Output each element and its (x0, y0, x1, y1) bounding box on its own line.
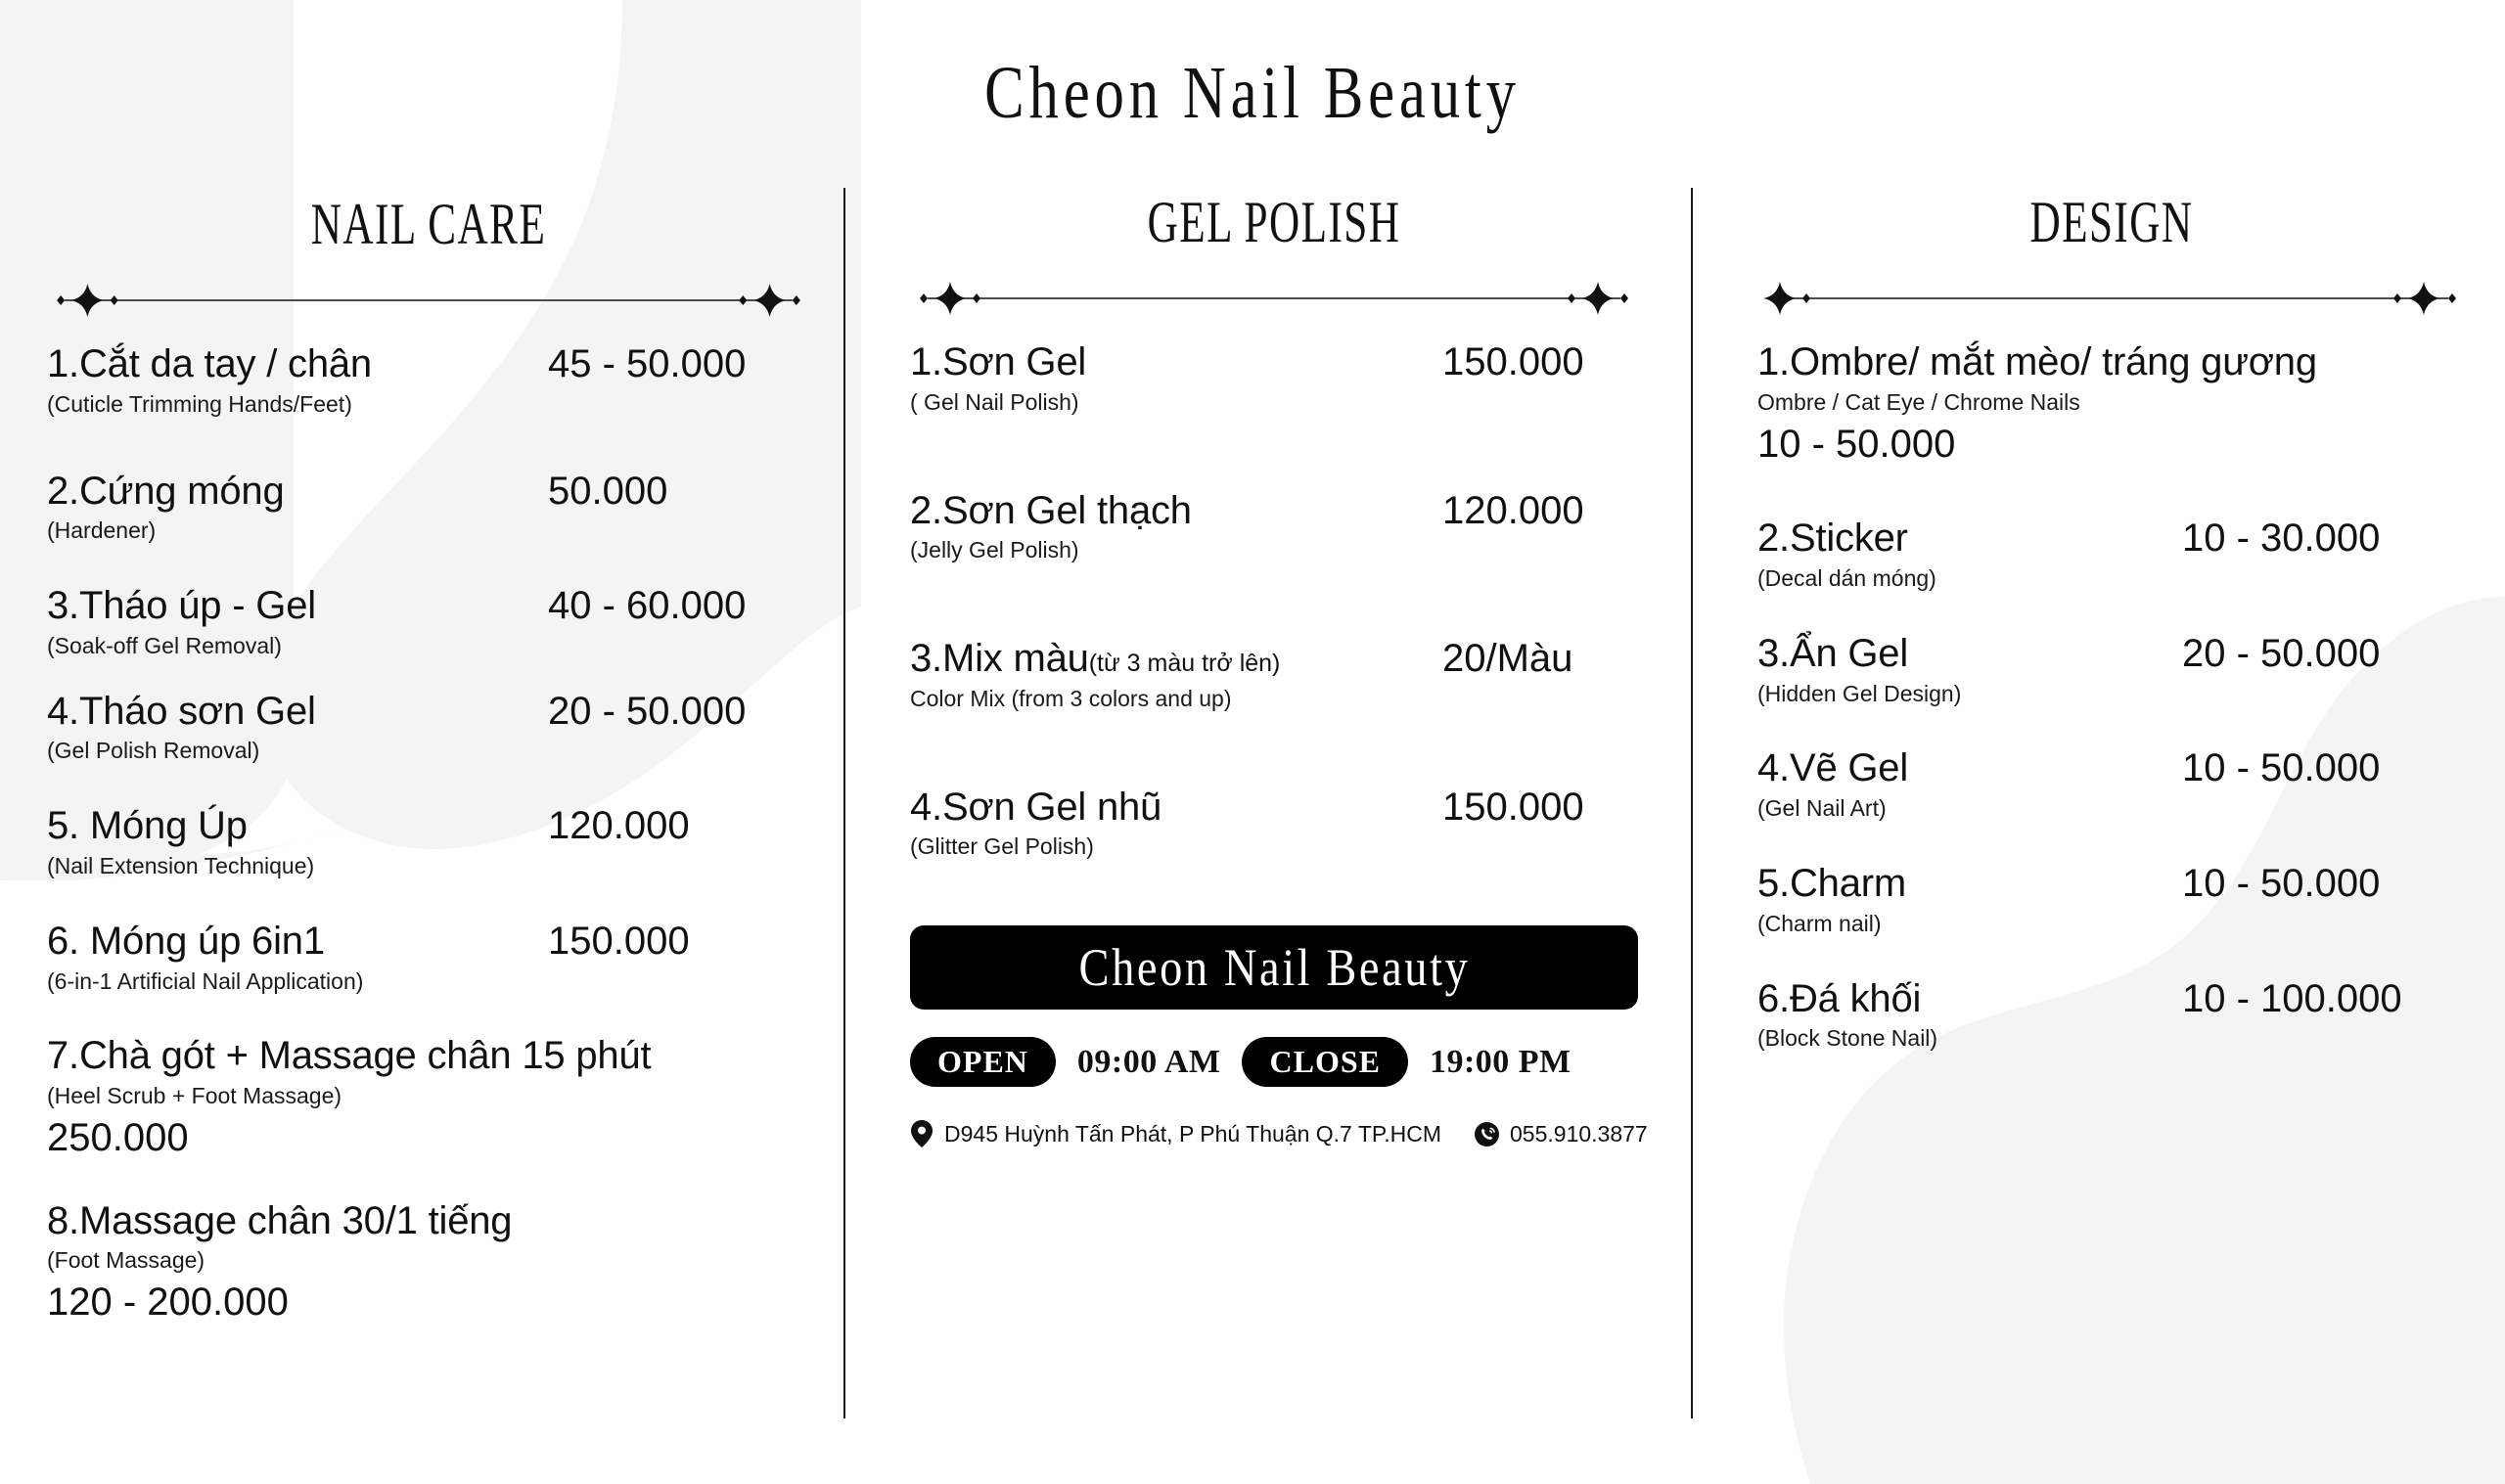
close-time: 19:00 PM (1430, 1044, 1571, 1081)
item-price: 120.000 (548, 804, 810, 848)
phone-text: 055.910.3877 (1510, 1121, 1648, 1147)
ornament-divider-nail-care (47, 284, 810, 317)
item-name: 2.Cứng móng (47, 470, 285, 514)
item-list-design: 1.Ombre/ mắt mèo/ tráng gương Ombre / Ca… (1757, 340, 2466, 1053)
item-price: 150.000 (1442, 340, 1638, 384)
item-price: 120.000 (1442, 489, 1638, 533)
item-name: 8.Massage chân 30/1 tiếng (47, 1199, 810, 1243)
item-name: 6.Đá khối (1757, 977, 1937, 1021)
menu-item: 6.Đá khối (Block Stone Nail) 10 - 100.00… (1757, 977, 2466, 1054)
section-header-gel-polish: GEL POLISH (1012, 189, 1536, 256)
item-subtitle: (Glitter Gel Polish) (910, 832, 1161, 861)
item-price: 250.000 (47, 1116, 810, 1160)
item-list-gel-polish: 1.Sơn Gel ( Gel Nail Polish) 150.000 2.S… (910, 340, 1638, 1147)
item-name: 2.Sơn Gel thạch (910, 489, 1192, 533)
menu-item: 4.Sơn Gel nhũ (Glitter Gel Polish) 150.0… (910, 786, 1638, 862)
item-subtitle: ( Gel Nail Polish) (910, 388, 1086, 417)
item-price: 150.000 (548, 920, 810, 964)
item-subtitle: (Decal dán móng) (1757, 564, 1936, 593)
item-name: 3.Mix màu(từ 3 màu trở lên) (910, 637, 1280, 681)
menu-item: 1.Cắt da tay / chân (Cuticle Trimming Ha… (47, 342, 810, 419)
column-gel-polish: GEL POLISH 1.Sơn Gel ( Gel Nail Polish) … (849, 0, 1697, 1484)
item-subtitle: (Soak-off Gel Removal) (47, 632, 316, 660)
location-pin-icon (910, 1120, 934, 1147)
menu-item: 4.Vẽ Gel (Gel Nail Art) 10 - 50.000 (1757, 746, 2466, 823)
menu-item: 6. Móng úp 6in1 (6-in-1 Artificial Nail … (47, 920, 810, 996)
item-price: 150.000 (1442, 786, 1638, 830)
open-badge: OPEN (910, 1037, 1056, 1087)
item-subtitle: Color Mix (from 3 colors and up) (910, 685, 1280, 713)
item-subtitle: (6-in-1 Artificial Nail Application) (47, 967, 363, 996)
menu-item: 7.Chà gót + Massage chân 15 phút (Heel S… (47, 1034, 810, 1159)
item-subtitle: (Gel Nail Art) (1757, 794, 1908, 823)
ornament-divider-gel-polish (910, 282, 1638, 315)
item-name: 7.Chà gót + Massage chân 15 phút (47, 1034, 810, 1078)
item-price: 50.000 (548, 470, 810, 514)
item-subtitle: (Hidden Gel Design) (1757, 680, 1961, 708)
item-name: 1.Sơn Gel (910, 340, 1086, 384)
item-subtitle: (Nail Extension Technique) (47, 852, 314, 880)
item-price: 10 - 100.000 (2182, 977, 2466, 1021)
item-name: 5.Charm (1757, 862, 1906, 906)
logo-banner-text: Cheon Nail Beauty (1078, 937, 1470, 998)
item-price: 10 - 50.000 (2182, 746, 2466, 790)
section-header-nail-care: NAIL CARE (154, 191, 704, 258)
section-header-design: DESIGN (1856, 189, 2366, 256)
logo-banner: Cheon Nail Beauty (910, 925, 1638, 1010)
item-subtitle: (Jelly Gel Polish) (910, 536, 1192, 564)
item-name: 6. Móng úp 6in1 (47, 920, 363, 964)
address-text: D945 Huỳnh Tấn Phát, P Phú Thuận Q.7 TP.… (944, 1121, 1441, 1147)
menu-item: 3.Tháo úp - Gel (Soak-off Gel Removal) 4… (47, 584, 810, 660)
item-subtitle: (Cuticle Trimming Hands/Feet) (47, 390, 372, 419)
item-price: 20 - 50.000 (548, 690, 810, 734)
item-name: 3.Tháo úp - Gel (47, 584, 316, 628)
menu-item: 1.Sơn Gel ( Gel Nail Polish) 150.000 (910, 340, 1638, 417)
menu-item: 5. Móng Úp (Nail Extension Technique) 12… (47, 804, 810, 880)
menu-item: 4.Tháo sơn Gel (Gel Polish Removal) 20 -… (47, 690, 810, 766)
column-nail-care: NAIL CARE 1.Cắt da tay / chân (Cuticle T… (0, 0, 849, 1484)
item-list-nail-care: 1.Cắt da tay / chân (Cuticle Trimming Ha… (47, 342, 810, 1325)
column-divider-right (1691, 188, 1693, 1418)
column-design: DESIGN 1.Ombre/ mắt mèo/ tráng gương Omb… (1697, 0, 2505, 1484)
item-price: 10 - 50.000 (2182, 862, 2466, 906)
item-name: 1.Cắt da tay / chân (47, 342, 372, 386)
item-name: 2.Sticker (1757, 517, 1936, 561)
item-subtitle: (Block Stone Nail) (1757, 1024, 1937, 1053)
menu-item: 2.Sticker (Decal dán móng) 10 - 30.000 (1757, 517, 2466, 593)
item-name-suffix: (từ 3 màu trở lên) (1089, 650, 1281, 677)
phone-group: 055.910.3877 (1475, 1121, 1648, 1147)
item-price: 120 - 200.000 (47, 1281, 810, 1325)
menu-columns: NAIL CARE 1.Cắt da tay / chân (Cuticle T… (0, 0, 2505, 1484)
open-time: 09:00 AM (1077, 1044, 1221, 1081)
ornament-divider-design (1757, 282, 2466, 315)
item-price: 40 - 60.000 (548, 584, 810, 628)
item-subtitle: (Hardener) (47, 517, 285, 545)
item-price: 45 - 50.000 (548, 342, 810, 386)
column-divider-left (843, 188, 845, 1418)
menu-item: 3.Mix màu(từ 3 màu trở lên) Color Mix (f… (910, 637, 1638, 713)
item-name: 4.Tháo sơn Gel (47, 690, 316, 734)
close-badge: CLOSE (1242, 1037, 1407, 1087)
item-subtitle: (Charm nail) (1757, 910, 1906, 938)
item-subtitle: Ombre / Cat Eye / Chrome Nails (1757, 388, 2466, 417)
item-name: 3.Ẩn Gel (1757, 632, 1961, 676)
item-name: 4.Vẽ Gel (1757, 746, 1908, 790)
item-price: 20 - 50.000 (2182, 632, 2466, 676)
item-name: 1.Ombre/ mắt mèo/ tráng gương (1757, 340, 2466, 384)
contact-info: D945 Huỳnh Tấn Phát, P Phú Thuận Q.7 TP.… (910, 1120, 1638, 1147)
item-name: 4.Sơn Gel nhũ (910, 786, 1161, 830)
menu-item: 1.Ombre/ mắt mèo/ tráng gương Ombre / Ca… (1757, 340, 2466, 466)
page-title: Cheon Nail Beauty (250, 51, 2254, 136)
menu-item: 2.Sơn Gel thạch (Jelly Gel Polish) 120.0… (910, 489, 1638, 565)
item-subtitle: (Heel Scrub + Foot Massage) (47, 1082, 810, 1110)
item-name: 5. Móng Úp (47, 804, 314, 848)
business-hours: OPEN 09:00 AM CLOSE 19:00 PM (910, 1037, 1638, 1087)
item-subtitle: (Gel Polish Removal) (47, 737, 316, 765)
item-price: 10 - 50.000 (1757, 423, 2466, 467)
menu-item: 8.Massage chân 30/1 tiếng (Foot Massage)… (47, 1199, 810, 1325)
item-price: 20/Màu (1442, 637, 1638, 681)
menu-item: 5.Charm (Charm nail) 10 - 50.000 (1757, 862, 2466, 938)
phone-icon (1475, 1122, 1499, 1147)
menu-item: 2.Cứng móng (Hardener) 50.000 (47, 470, 810, 546)
item-subtitle: (Foot Massage) (47, 1246, 810, 1275)
item-price: 10 - 30.000 (2182, 517, 2466, 561)
menu-item: 3.Ẩn Gel (Hidden Gel Design) 20 - 50.000 (1757, 632, 2466, 708)
